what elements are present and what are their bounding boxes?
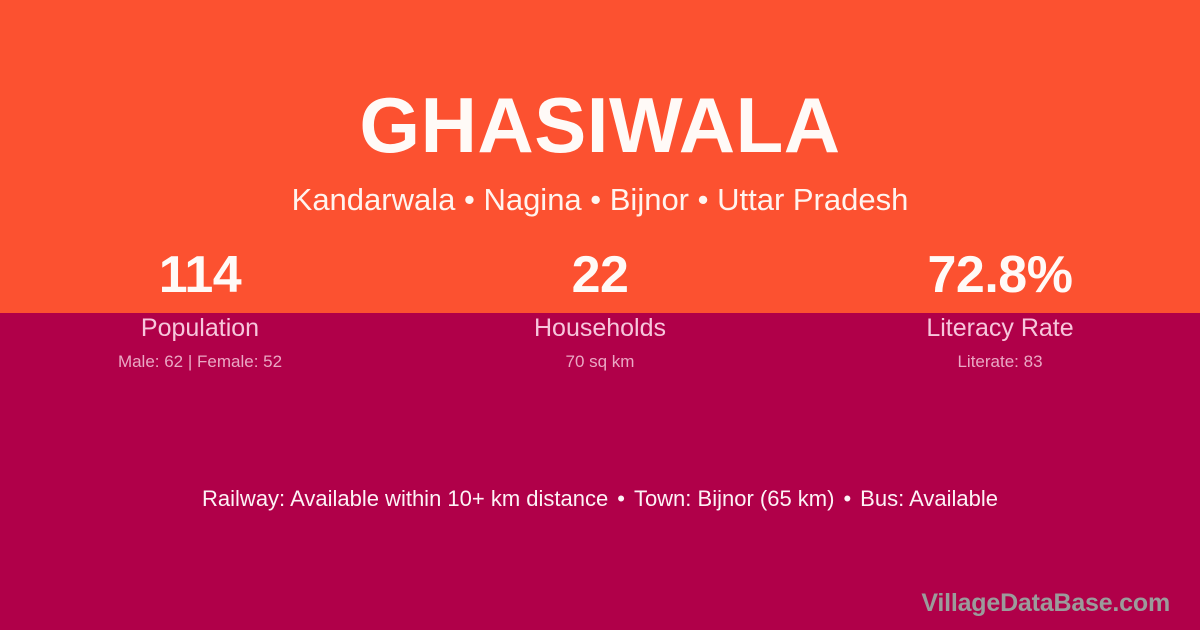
village-info-card: GHASIWALA Kandarwala • Nagina • Bijnor •… — [0, 0, 1200, 630]
amenity-bus: Bus: Available — [860, 486, 998, 511]
stat-detail-population: Male: 62 | Female: 52 — [0, 351, 400, 372]
stat-households: 22 Households 70 sq km — [400, 244, 800, 372]
stat-literacy-rate: 72.8% Literacy Rate Literate: 83 — [800, 244, 1200, 372]
amenity-separator-1: • — [608, 485, 634, 513]
stat-population: 114 Population Male: 62 | Female: 52 — [0, 244, 400, 372]
stat-detail-literacy-rate: Literate: 83 — [800, 351, 1200, 372]
amenities-line: Railway: Available within 10+ km distanc… — [0, 485, 1200, 513]
stat-value-population: 114 — [0, 244, 400, 306]
stats-row: 114 Population Male: 62 | Female: 52 22 … — [0, 244, 1200, 372]
site-watermark: VillageDataBase.com — [921, 588, 1170, 618]
stat-value-literacy-rate: 72.8% — [800, 244, 1200, 306]
amenity-separator-2: • — [834, 485, 860, 513]
stat-value-households: 22 — [400, 244, 800, 306]
stat-label-households: Households — [400, 313, 800, 343]
page-title: GHASIWALA — [0, 79, 1200, 171]
stat-label-literacy-rate: Literacy Rate — [800, 313, 1200, 343]
stat-detail-households: 70 sq km — [400, 351, 800, 372]
amenity-railway: Railway: Available within 10+ km distanc… — [202, 486, 608, 511]
amenity-town: Town: Bijnor (65 km) — [634, 486, 835, 511]
stat-label-population: Population — [0, 313, 400, 343]
breadcrumb: Kandarwala • Nagina • Bijnor • Uttar Pra… — [0, 182, 1200, 218]
